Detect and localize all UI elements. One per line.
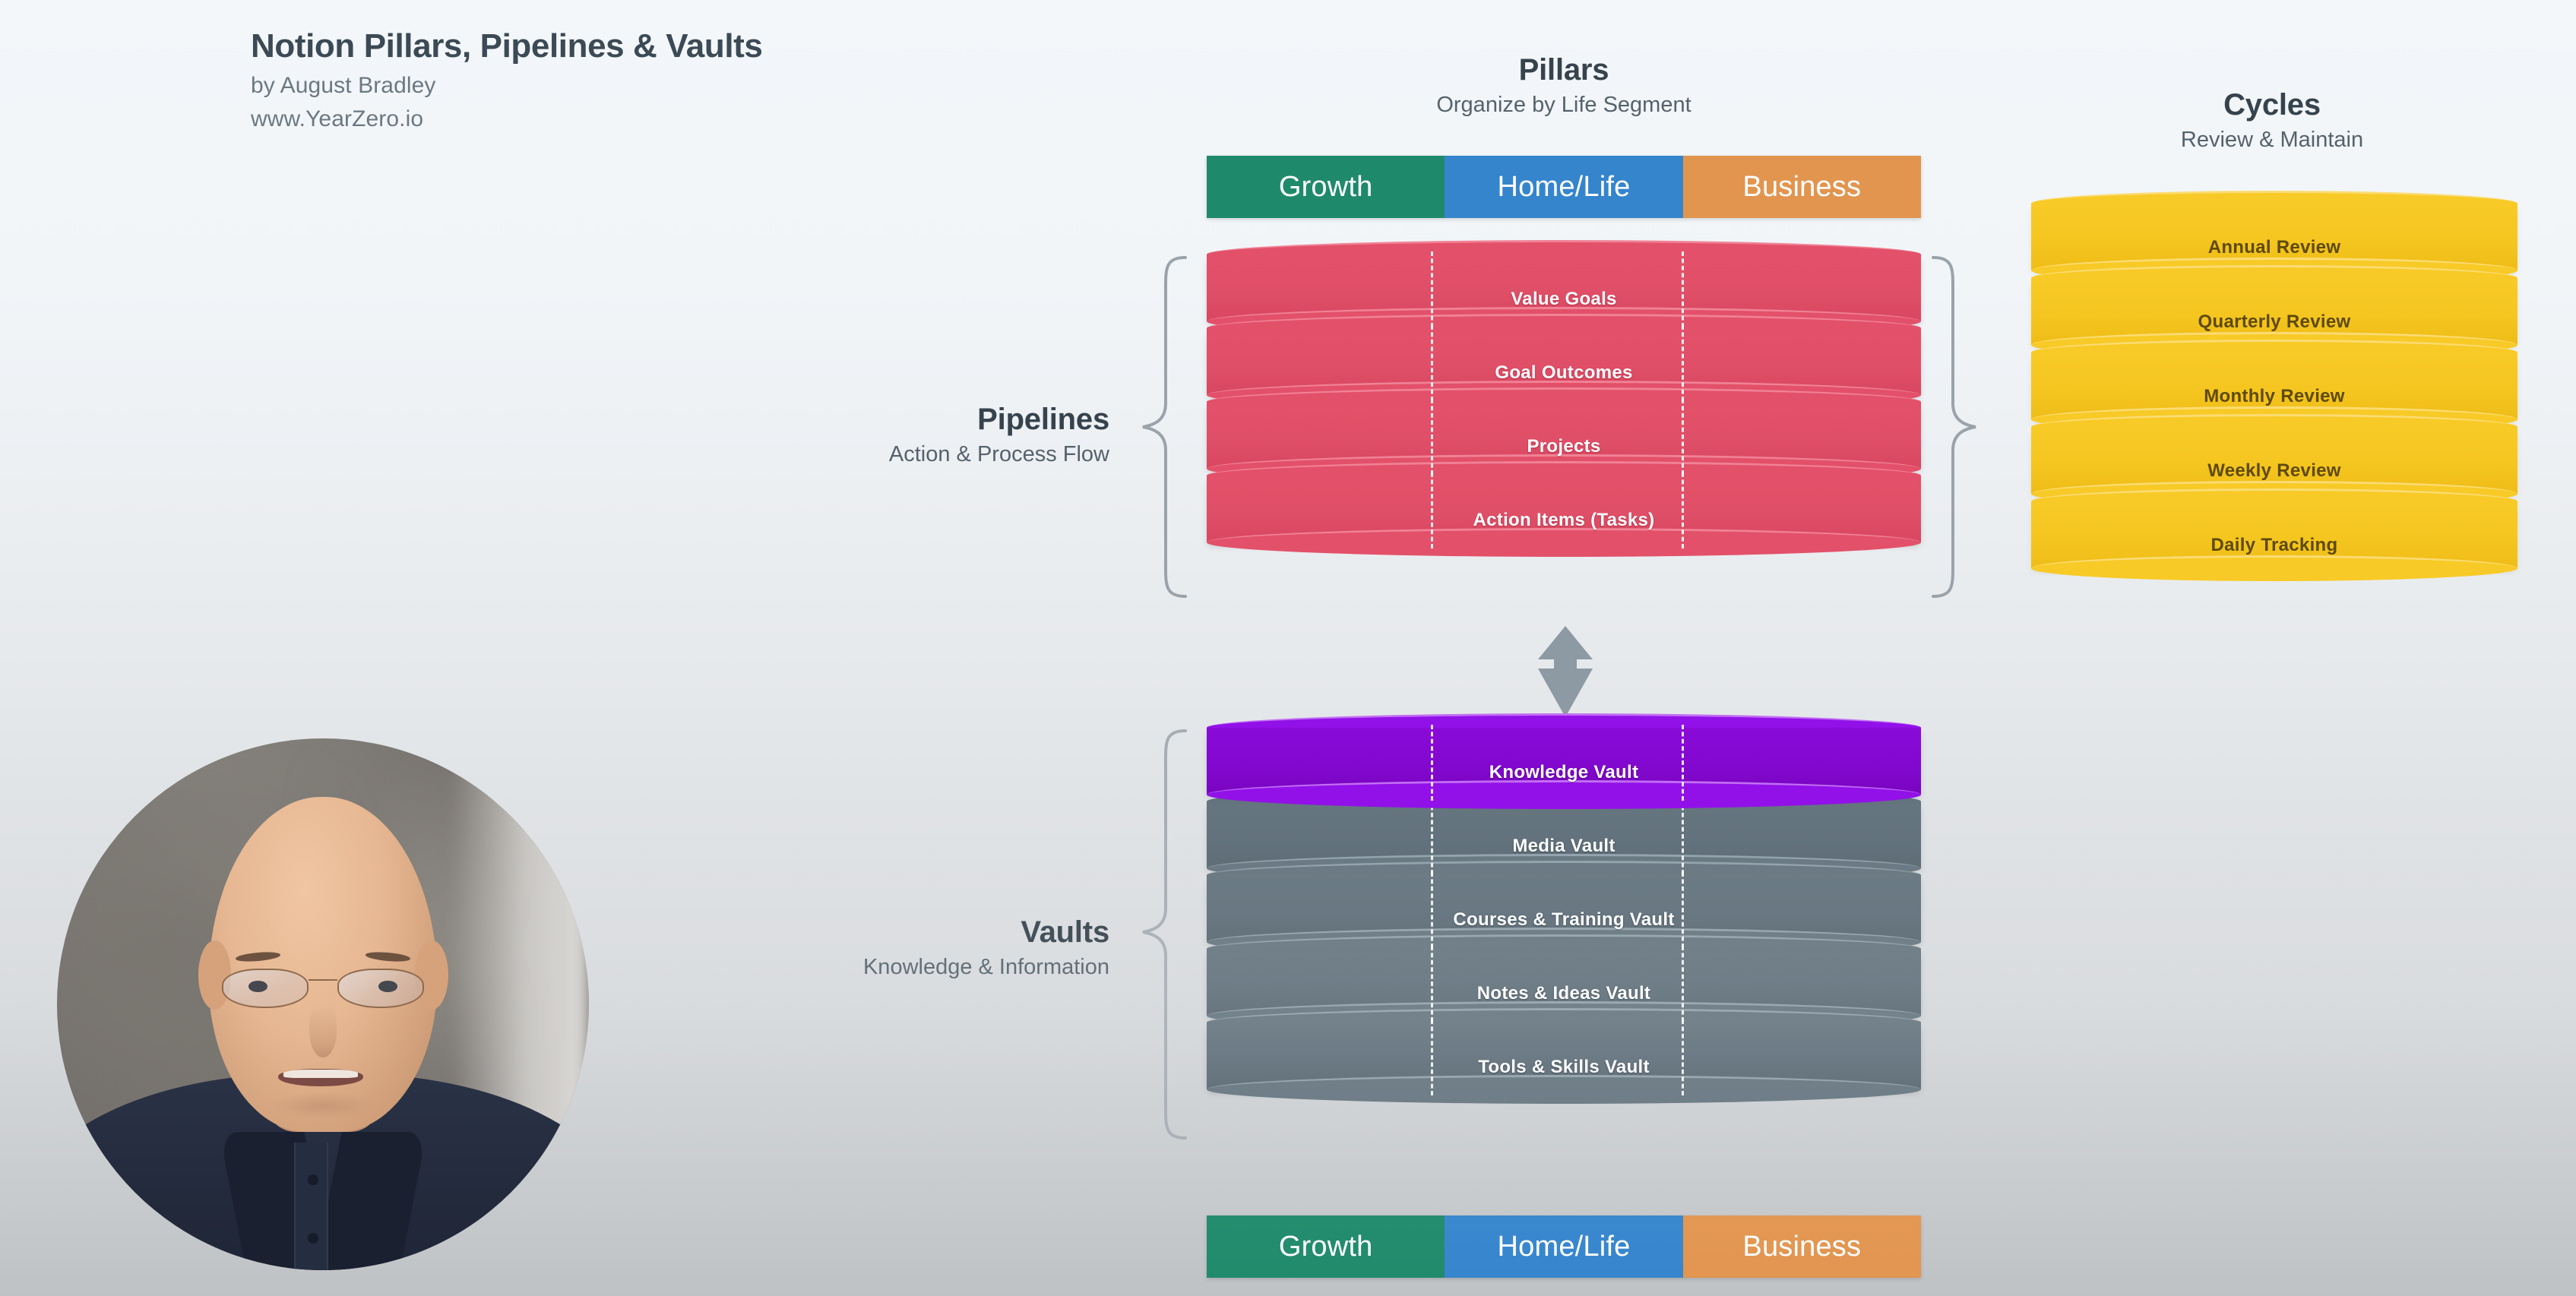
pipeline-cylinder-action-items[interactable]: Action Items (Tasks): [1207, 476, 1921, 542]
pillar-segment-growth[interactable]: Growth: [1207, 156, 1445, 218]
vaults-stack: Knowledge Vault Media Vault Courses & Tr…: [1207, 728, 1921, 1089]
vault-cylinder-tools-skills[interactable]: Tools & Skills Vault: [1207, 1023, 1921, 1089]
cycle-cylinder-daily-tracking[interactable]: Daily Tracking: [2031, 501, 2517, 568]
cylinder-bottom-cap: [1207, 528, 1921, 557]
pillar-segment-home-life[interactable]: Home/Life: [1445, 156, 1682, 218]
website-link[interactable]: www.YearZero.io: [251, 106, 762, 132]
cycle-cylinder-monthly-review[interactable]: Monthly Review: [2031, 352, 2517, 419]
vault-cylinder-knowledge[interactable]: Knowledge Vault: [1207, 728, 1921, 795]
presenter-eye-right: [378, 981, 397, 992]
presenter-chin-shadow: [270, 1092, 376, 1119]
vault-cylinder-notes-ideas[interactable]: Notes & Ideas Vault: [1207, 949, 1921, 1016]
pillars-header: Pillars Organize by Life Segment: [1207, 53, 1921, 118]
pipelines-section-label: Pipelines Action & Process Flow: [684, 403, 1109, 467]
vault-label: Knowledge Vault: [1207, 762, 1921, 783]
pillars-title: Pillars: [1207, 53, 1921, 87]
pillar-segment-home-life-bottom[interactable]: Home/Life: [1445, 1215, 1682, 1278]
cycle-cylinder-annual-review[interactable]: Annual Review: [2031, 204, 2517, 270]
presenter-nose: [309, 1004, 337, 1057]
pipeline-label: Action Items (Tasks): [1207, 510, 1921, 531]
pipeline-cylinder-goal-outcomes[interactable]: Goal Outcomes: [1207, 328, 1921, 395]
presenter-teeth: [283, 1070, 359, 1078]
shirt-placket: [294, 1143, 329, 1270]
presenter-video-avatar[interactable]: [57, 738, 589, 1270]
vault-cylinder-courses-training[interactable]: Courses & Training Vault: [1207, 875, 1921, 942]
pipeline-cylinder-projects[interactable]: Projects: [1207, 402, 1921, 469]
cycles-subtitle: Review & Maintain: [2021, 128, 2523, 153]
pillar-segment-growth-bottom[interactable]: Growth: [1207, 1215, 1445, 1278]
double-arrow-vertical-icon: [1533, 624, 1597, 722]
pipelines-brace-left: [1140, 254, 1188, 600]
vaults-title: Vaults: [653, 915, 1109, 950]
cylinder-bottom-cap: [2031, 555, 2517, 581]
cycles-header: Cycles Review & Maintain: [2021, 88, 2523, 153]
cycle-label: Daily Tracking: [2031, 535, 2517, 556]
presenter-eye-left: [248, 981, 267, 992]
vault-label: Courses & Training Vault: [1207, 909, 1921, 931]
pipeline-cylinder-value-goals[interactable]: Value Goals: [1207, 254, 1921, 321]
pipelines-brace-right: [1930, 254, 1979, 600]
cycle-label: Quarterly Review: [2031, 311, 2517, 333]
pillar-bar-top: Growth Home/Life Business: [1207, 156, 1921, 218]
cycle-label: Weekly Review: [2031, 460, 2517, 482]
cycles-title: Cycles: [2021, 88, 2523, 122]
pillar-segment-business-bottom[interactable]: Business: [1683, 1215, 1921, 1278]
pipelines-title: Pipelines: [684, 403, 1109, 437]
pipelines-stack: Value Goals Goal Outcomes Projects Actio…: [1207, 254, 1921, 542]
vaults-subtitle: Knowledge & Information: [653, 955, 1109, 980]
eyeglass-bridge: [309, 979, 337, 981]
cycle-label: Monthly Review: [2031, 386, 2517, 407]
pipeline-label: Goal Outcomes: [1207, 362, 1921, 384]
cycles-stack: Annual Review Quarterly Review Monthly R…: [2031, 204, 2517, 568]
pillar-bar-bottom: Growth Home/Life Business: [1207, 1215, 1921, 1278]
vaults-section-label: Vaults Knowledge & Information: [653, 915, 1109, 980]
cycle-cylinder-weekly-review[interactable]: Weekly Review: [2031, 427, 2517, 494]
pipelines-subtitle: Action & Process Flow: [684, 442, 1109, 467]
cylinder-bottom-cap: [1207, 780, 1921, 809]
vault-label: Tools & Skills Vault: [1207, 1057, 1921, 1078]
pillar-segment-business[interactable]: Business: [1683, 156, 1921, 218]
pillars-subtitle: Organize by Life Segment: [1207, 93, 1921, 118]
pipeline-label: Projects: [1207, 436, 1921, 457]
vaults-brace-left: [1140, 728, 1188, 1142]
pipeline-label: Value Goals: [1207, 289, 1921, 310]
title-block: Notion Pillars, Pipelines & Vaults by Au…: [251, 27, 762, 132]
vault-cylinder-media[interactable]: Media Vault: [1207, 801, 1921, 868]
cycle-cylinder-quarterly-review[interactable]: Quarterly Review: [2031, 278, 2517, 345]
vault-label: Notes & Ideas Vault: [1207, 983, 1921, 1004]
vault-label: Media Vault: [1207, 836, 1921, 857]
cylinder-bottom-cap: [1207, 1075, 1921, 1104]
cycle-label: Annual Review: [2031, 237, 2517, 258]
page-title: Notion Pillars, Pipelines & Vaults: [251, 27, 762, 65]
author-byline: by August Bradley: [251, 73, 762, 99]
